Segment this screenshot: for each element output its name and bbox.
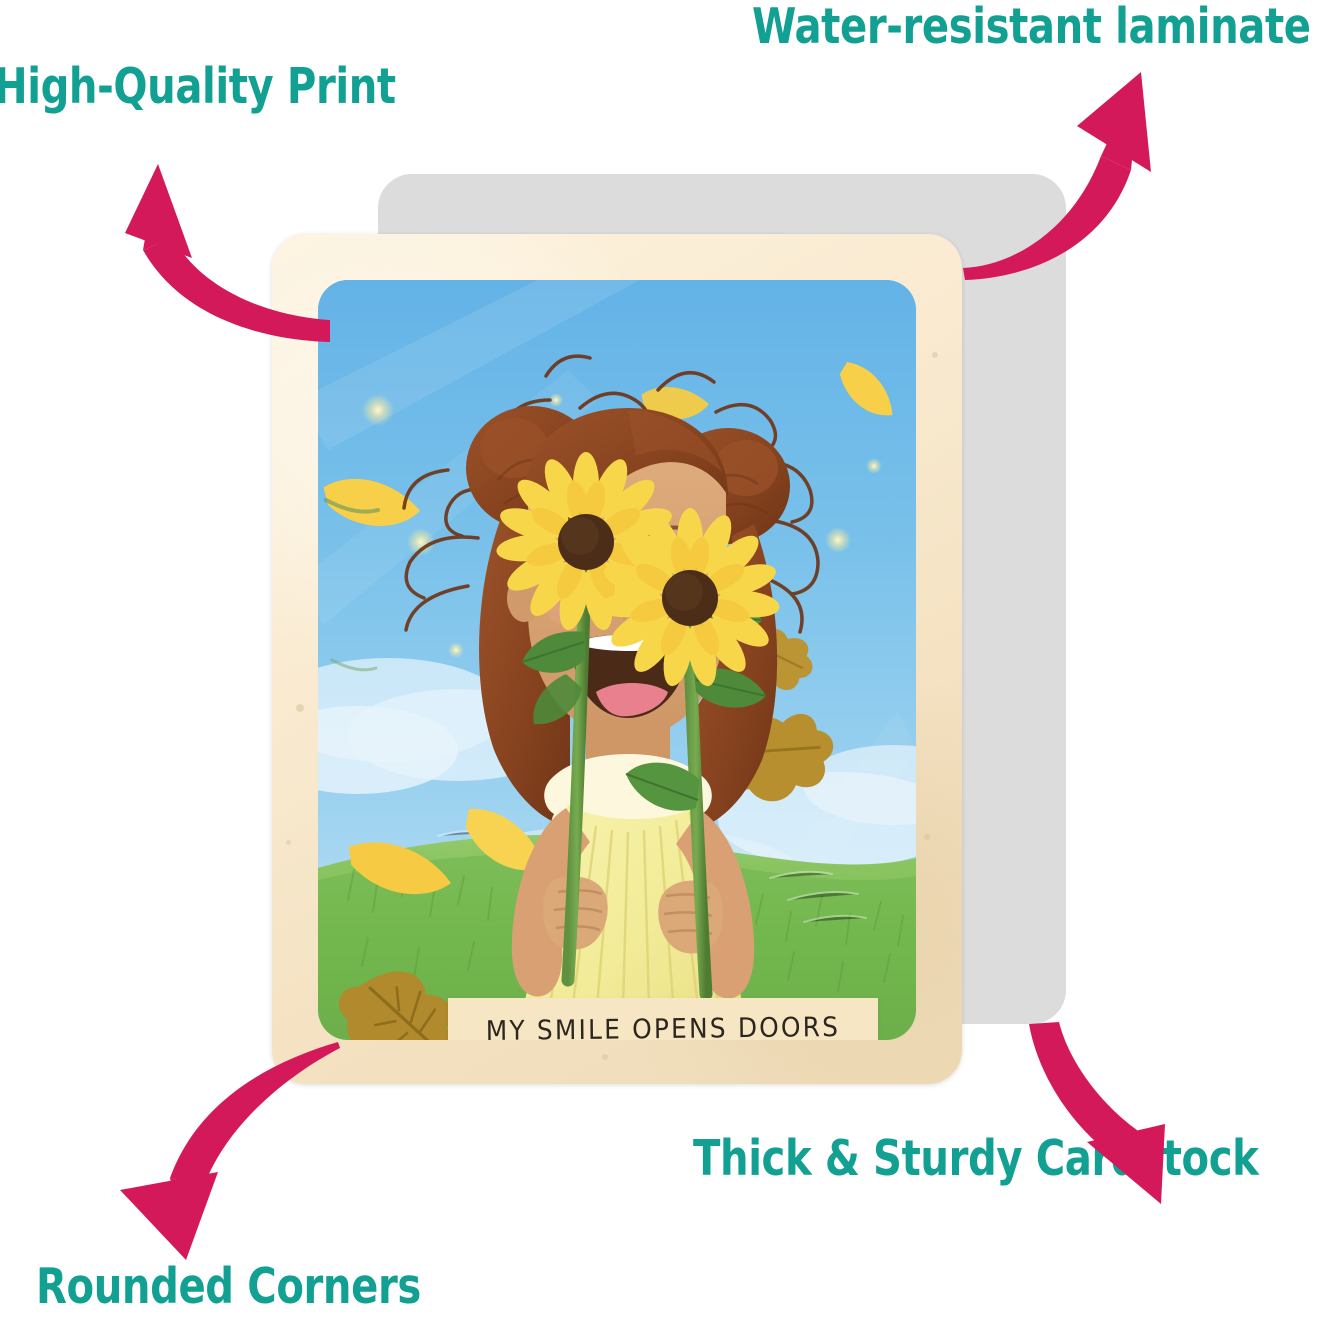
callout-label-thick-sturdy-cardstock: Thick & Sturdy Cardstock (693, 1134, 1258, 1183)
paper-speck (286, 840, 291, 845)
paper-speck (296, 704, 304, 712)
product-feature-infographic: MY SMILE OPENS DOORS High-Quality Print … (0, 0, 1320, 1324)
callout-label-rounded-corners: Rounded Corners (36, 1262, 421, 1311)
paper-speck (932, 352, 938, 358)
affirmation-banner: MY SMILE OPENS DOORS (448, 998, 878, 1040)
callout-label-high-quality-print: High-Quality Print (0, 62, 396, 111)
paper-speck (924, 834, 930, 840)
card-illustration: MY SMILE OPENS DOORS (318, 280, 916, 1040)
callout-label-water-resistant-laminate: Water-resistant laminate (752, 2, 1311, 51)
affirmation-text: MY SMILE OPENS DOORS (465, 996, 861, 1040)
arrow-thick-sturdy-cardstock (1015, 1018, 1215, 1218)
paper-speck (602, 1054, 608, 1060)
printed-affirmation-card: MY SMILE OPENS DOORS (272, 234, 962, 1084)
